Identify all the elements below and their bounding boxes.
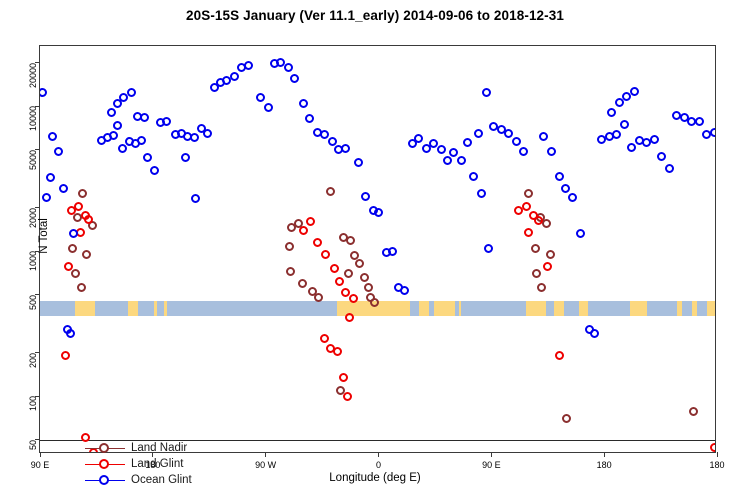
x-tick-label: 180: [709, 460, 724, 470]
data-point: [519, 147, 528, 156]
legend-item: Land Nadir: [85, 440, 192, 456]
y-tick-label: 5000: [28, 150, 38, 170]
data-point: [71, 269, 80, 278]
y-tick-label: 10000: [28, 106, 38, 131]
x-tick-label: 90 E: [31, 460, 50, 470]
data-point: [590, 329, 599, 338]
data-point: [469, 172, 478, 181]
data-point: [630, 87, 639, 96]
land-segment: [526, 301, 546, 316]
data-point: [326, 187, 335, 196]
data-point: [361, 192, 370, 201]
data-point: [140, 113, 149, 122]
data-point: [657, 152, 666, 161]
data-point: [414, 134, 423, 143]
legend-marker-icon: [99, 459, 109, 469]
plot-canvas: [40, 46, 715, 452]
data-point: [109, 131, 118, 140]
data-point: [543, 262, 552, 271]
x-tick-label: 0: [376, 460, 381, 470]
land-segment: [554, 301, 564, 316]
data-point: [484, 244, 493, 253]
data-point: [150, 166, 159, 175]
chart-title: 20S-15S January (Ver 11.1_early) 2014-09…: [0, 8, 750, 23]
x-tick-mark: [604, 452, 605, 457]
data-point: [364, 283, 373, 292]
data-point: [532, 269, 541, 278]
legend-label: Land Glint: [125, 458, 183, 470]
data-point: [314, 293, 323, 302]
data-point: [546, 250, 555, 259]
land-segment: [630, 301, 646, 316]
data-point: [665, 164, 674, 173]
data-point: [143, 153, 152, 162]
land-segment: [692, 301, 697, 316]
y-tick-label: 100: [28, 396, 38, 411]
data-point: [68, 244, 77, 253]
data-point: [695, 117, 704, 126]
data-point: [306, 217, 315, 226]
data-point: [48, 132, 57, 141]
data-point: [330, 264, 339, 273]
data-point: [620, 120, 629, 129]
data-point: [710, 443, 715, 452]
data-point: [561, 184, 570, 193]
data-point: [335, 277, 344, 286]
land-segment: [128, 301, 138, 316]
x-tick-label: 90 W: [255, 460, 276, 470]
land-segment: [434, 301, 455, 316]
data-point: [555, 351, 564, 360]
data-point: [284, 63, 293, 72]
data-point: [54, 147, 63, 156]
data-point: [568, 193, 577, 202]
data-point: [627, 143, 636, 152]
data-point: [107, 108, 116, 117]
data-point: [290, 74, 299, 83]
x-tick-label: 90 E: [482, 460, 501, 470]
data-point: [457, 156, 466, 165]
data-point: [78, 189, 87, 198]
legend-symbol: [85, 456, 125, 472]
x-tick-mark: [265, 452, 266, 457]
data-point: [689, 407, 698, 416]
data-point: [320, 334, 329, 343]
land-segment: [419, 301, 429, 316]
data-point: [607, 108, 616, 117]
data-point: [299, 226, 308, 235]
data-point: [539, 132, 548, 141]
data-point: [374, 208, 383, 217]
data-point: [203, 129, 212, 138]
data-point: [305, 114, 314, 123]
data-point: [346, 236, 355, 245]
data-point: [463, 138, 472, 147]
x-tick-mark: [717, 452, 718, 457]
data-point: [360, 273, 369, 282]
data-point: [562, 414, 571, 423]
data-point: [400, 286, 409, 295]
data-point: [321, 250, 330, 259]
data-point: [264, 103, 273, 112]
data-point: [524, 189, 533, 198]
data-point: [230, 72, 239, 81]
data-point: [42, 193, 51, 202]
land-segment: [677, 301, 682, 316]
legend-label: Land Nadir: [125, 442, 187, 454]
data-point: [522, 202, 531, 211]
data-point: [388, 247, 397, 256]
data-point: [504, 129, 513, 138]
data-point: [443, 156, 452, 165]
data-point: [113, 121, 122, 130]
data-point: [524, 228, 533, 237]
y-tick-label: 1000: [28, 251, 38, 271]
data-point: [537, 283, 546, 292]
data-point: [333, 347, 342, 356]
data-point: [341, 144, 350, 153]
y-tick-label: 200: [28, 353, 38, 368]
data-point: [710, 128, 715, 137]
data-point: [542, 219, 551, 228]
data-point: [531, 244, 540, 253]
data-point: [345, 313, 354, 322]
data-point: [343, 392, 352, 401]
data-point: [299, 99, 308, 108]
data-point: [286, 267, 295, 276]
data-point: [127, 88, 136, 97]
data-point: [354, 158, 363, 167]
data-point: [555, 172, 564, 181]
data-point: [512, 137, 521, 146]
data-point: [61, 351, 70, 360]
data-point: [118, 144, 127, 153]
plot-area: N Total 50100200500100020005000100002000…: [39, 45, 716, 453]
x-tick-mark: [40, 452, 41, 457]
legend-item: Land Glint: [85, 456, 192, 472]
data-point: [191, 194, 200, 203]
data-point: [313, 238, 322, 247]
data-point: [59, 184, 68, 193]
data-point: [514, 206, 523, 215]
data-point: [40, 88, 47, 97]
land-segment: [579, 301, 588, 316]
x-tick-mark: [378, 452, 379, 457]
data-point: [477, 189, 486, 198]
legend-marker-icon: [99, 443, 109, 453]
land-segment: [154, 301, 157, 316]
data-point: [46, 173, 55, 182]
data-point: [650, 135, 659, 144]
data-point: [576, 229, 585, 238]
data-point: [82, 250, 91, 259]
data-point: [190, 133, 199, 142]
data-point: [256, 93, 265, 102]
data-point: [298, 279, 307, 288]
legend-symbol: [85, 440, 125, 456]
data-point: [339, 373, 348, 382]
data-point: [355, 259, 364, 268]
data-point: [137, 136, 146, 145]
y-tick-label: 20000: [28, 63, 38, 88]
data-point: [449, 148, 458, 157]
x-tick-label: 180: [597, 460, 612, 470]
data-point: [77, 283, 86, 292]
data-point: [474, 129, 483, 138]
land-segment: [707, 301, 715, 316]
y-tick-label: 50: [28, 440, 38, 450]
land-segment: [75, 301, 95, 316]
data-point: [482, 88, 491, 97]
y-tick-label: 2000: [28, 208, 38, 228]
land-segment: [164, 301, 167, 316]
data-point: [320, 130, 329, 139]
x-tick-mark: [491, 452, 492, 457]
data-point: [344, 269, 353, 278]
x-axis-label: Longitude (deg E): [0, 472, 750, 484]
data-point: [612, 130, 621, 139]
data-point: [69, 229, 78, 238]
data-point: [181, 153, 190, 162]
data-point: [285, 242, 294, 251]
y-tick-label: 500: [28, 295, 38, 310]
data-point: [66, 329, 75, 338]
data-point: [437, 145, 446, 154]
land-segment: [459, 301, 462, 316]
data-point: [547, 147, 556, 156]
data-point: [244, 61, 253, 70]
data-point: [162, 117, 171, 126]
